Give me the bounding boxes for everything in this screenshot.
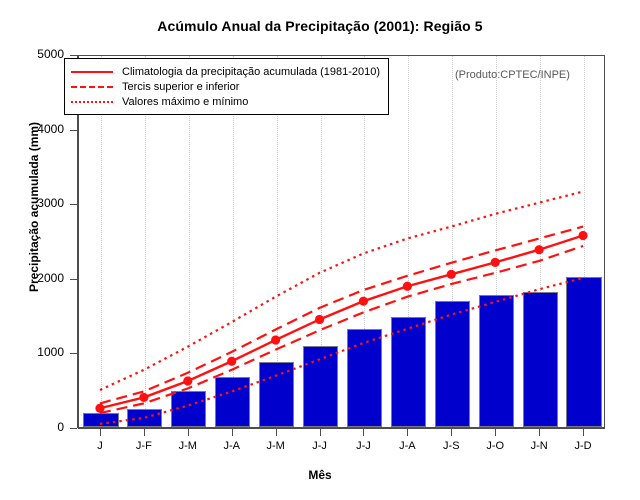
y-axis-tick (70, 55, 77, 56)
legend-item-label: Climatologia da precipitação acumulada (… (122, 66, 380, 78)
y-axis-tick (70, 428, 77, 429)
y-axis-tick (70, 353, 77, 354)
legend-dashed-line-icon (71, 81, 113, 93)
x-axis-tick-label: J-O (470, 440, 520, 452)
chart-legend: Climatologia da precipitação acumulada (… (64, 58, 389, 115)
x-axis-tick (232, 429, 233, 436)
y-axis-tick-label: 5000 (8, 47, 64, 61)
y-axis-tick-label: 4000 (8, 122, 64, 136)
x-axis-tick (276, 429, 277, 436)
bar (435, 301, 470, 427)
x-axis-tick (100, 429, 101, 436)
bar (171, 391, 206, 427)
bar (127, 409, 162, 427)
x-axis-tick (144, 429, 145, 436)
bar (83, 413, 118, 427)
bar (523, 292, 558, 427)
legend-solid-line-icon (71, 66, 113, 78)
x-axis-tick-label: J-J (338, 440, 388, 452)
x-axis-tick (407, 429, 408, 436)
x-axis-line (78, 428, 605, 429)
x-axis-tick (495, 429, 496, 436)
x-axis-tick (188, 429, 189, 436)
x-axis-tick (583, 429, 584, 436)
x-axis-tick-label: J-M (251, 440, 301, 452)
x-axis-tick-label: J-N (514, 440, 564, 452)
x-axis-tick-label: J-F (119, 440, 169, 452)
y-axis-tick-label: 1000 (8, 345, 64, 359)
x-axis-tick (363, 429, 364, 436)
bar (303, 346, 338, 427)
y-axis-tick (70, 279, 77, 280)
bar (259, 362, 294, 427)
legend-item-label: Valores máximo e mínimo (122, 96, 248, 108)
bar (215, 377, 250, 427)
x-axis-tick-label: J-S (426, 440, 476, 452)
y-axis-tick-label: 3000 (8, 196, 64, 210)
x-axis-tick (320, 429, 321, 436)
y-axis-tick (70, 130, 77, 131)
x-axis-tick (539, 429, 540, 436)
legend-dotted-line-icon (71, 96, 113, 108)
precipitation-chart: Acúmulo Anual da Precipitação (2001): Re… (0, 0, 640, 500)
x-axis-tick-label: J-A (382, 440, 432, 452)
bar (479, 295, 514, 427)
x-axis-title: Mês (0, 468, 640, 482)
legend-item-label: Tercis superior e inferior (122, 81, 239, 93)
x-axis-tick-label: J-A (207, 440, 257, 452)
y-axis-tick-label: 0 (8, 420, 64, 434)
y-axis-tick (70, 204, 77, 205)
y-axis-tick-label: 2000 (8, 271, 64, 285)
x-axis-tick (451, 429, 452, 436)
x-axis-tick-label: J (75, 440, 125, 452)
bar (566, 277, 601, 427)
producer-note: (Produto:CPTEC/INPE) (455, 69, 570, 81)
legend-item: Climatologia da precipitação acumulada (… (71, 64, 380, 79)
bar (391, 317, 426, 427)
x-axis-tick-label: J-D (558, 440, 608, 452)
chart-title: Acúmulo Anual da Precipitação (2001): Re… (0, 18, 640, 34)
legend-item: Tercis superior e inferior (71, 79, 380, 94)
bar (347, 329, 382, 427)
legend-item: Valores máximo e mínimo (71, 94, 380, 109)
x-axis-tick-label: J-M (163, 440, 213, 452)
x-axis-tick-label: J-J (295, 440, 345, 452)
